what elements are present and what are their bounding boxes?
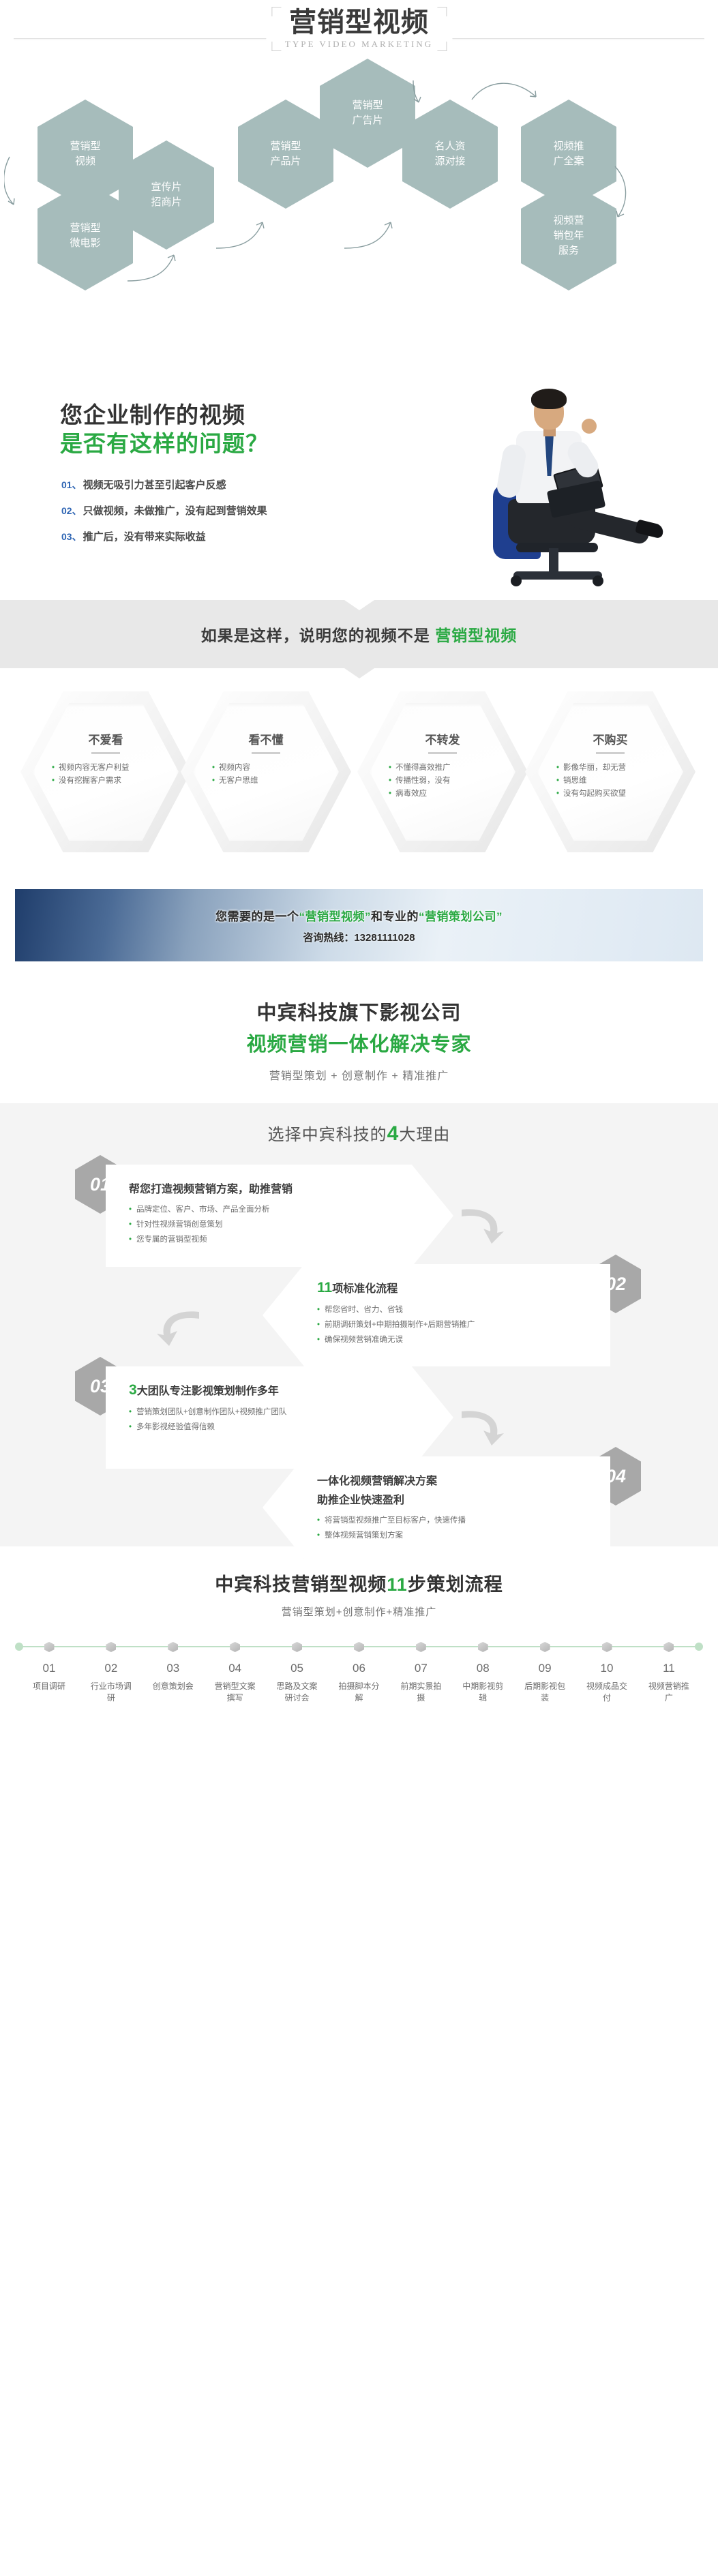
rail-end-cap-left-icon [15, 1643, 23, 1651]
title-underline [252, 752, 280, 754]
reason-heading: 3大团队专注影视策划制作多年 [129, 1381, 430, 1398]
step-number: 02 [89, 1662, 133, 1675]
step-number: 01 [27, 1662, 71, 1675]
step-number: 09 [523, 1662, 567, 1675]
service-hex-cluster: 营销型视频 宣传片招商片 营销型产品片 营销型广告片 名人资源对接 视频推广全案… [0, 82, 718, 375]
step-number: 07 [399, 1662, 443, 1675]
problem-title: 不转发 [389, 730, 496, 747]
chair-wheel [593, 575, 603, 586]
step-item-03[interactable]: 03 创意策划会 [151, 1642, 195, 1705]
step-label: 行业市场调研 [89, 1681, 133, 1705]
step-label: 思路及文案研讨会 [275, 1681, 319, 1705]
step-number: 10 [585, 1662, 629, 1675]
cta-blue-banner: 您需要的是一个“营销型视频”和专业的“营销策划公司” 咨询热线：13281111… [0, 873, 718, 982]
problem-hex-3[interactable]: 不购买 影像华丽，却无营 销思维 没有勾起购买欲望 [525, 691, 695, 852]
reason-heading: 帮您打造视频营销方案，助推营销 [129, 1180, 430, 1196]
corner-bracket-icon [437, 7, 447, 16]
step-number: 03 [151, 1662, 195, 1675]
reasons-section: 选择中宾科技的4大理由 01 帮您打造视频营销方案，助推营销 品牌定位、客户、市… [0, 1103, 718, 1546]
problem-hex-1[interactable]: 看不懂 视频内容 无客户思维 [181, 691, 351, 852]
question-item: 02、 只做视频，未做推广，没有起到营销效果 [61, 503, 267, 518]
problem-hex-inner: 看不懂 视频内容 无客户思维 [193, 703, 339, 841]
problem-bullet: 视频内容 [212, 762, 320, 775]
question-text: 推广后，没有带来实际收益 [83, 529, 206, 543]
chair-wheel [511, 575, 522, 586]
step-number: 04 [213, 1662, 257, 1675]
hex-label: 宣传片招商片 [141, 180, 191, 210]
problem-hex-0[interactable]: 不爱看 视频内容无客户利益 没有挖掘客户需求 [20, 691, 191, 852]
person-hand [582, 419, 597, 434]
curved-arrow-down-right-icon [460, 1205, 505, 1245]
flow-arrow-icon [611, 164, 645, 225]
step-marker-icon [168, 1642, 178, 1652]
step-label: 后期影视包装 [523, 1681, 567, 1705]
problem-title: 看不懂 [212, 730, 320, 747]
step-item-04[interactable]: 04 营销型文案撰写 [213, 1642, 257, 1705]
reason-card-body: 帮您打造视频营销方案，助推营销 品牌定位、客户、市场、产品全面分析 针对性视频营… [106, 1165, 453, 1263]
band-text-plain: 如果是这样，说明您的视频不是 [201, 627, 435, 644]
company-name: 中宾科技旗下影视公司 [0, 997, 718, 1025]
step-marker-icon [354, 1642, 364, 1652]
hex-label: 名人资源对接 [425, 139, 475, 169]
reason-heading: 11项标准化流程 [317, 1279, 587, 1296]
hex-label: 营销型微电影 [60, 221, 110, 251]
company-tagline: 视频营销一体化解决专家 [0, 1028, 718, 1057]
person-hair [531, 389, 567, 409]
problem-bullet-cont: 销思维 [556, 775, 664, 788]
reason-heading-text: 项标准化流程 [332, 1283, 398, 1295]
step-item-10[interactable]: 10 视频成品交付 [585, 1642, 629, 1705]
flow-arrow-icon [215, 218, 276, 252]
steps-subtitle: 营销型策划+创意制作+精准推广 [0, 1604, 718, 1619]
step-item-02[interactable]: 02 行业市场调研 [89, 1642, 133, 1705]
steps-title-number: 11 [387, 1574, 408, 1595]
reason-card-04[interactable]: 一体化视频营销解决方案 助推企业快速盈利 将营销型视频推广至目标客户，快速传播 … [263, 1456, 610, 1559]
header-title-box: 营销型视频 TYPE VIDEO MARKETING [266, 4, 452, 54]
step-marker-icon [478, 1642, 488, 1652]
hex-label: 视频推广全案 [543, 139, 593, 169]
step-label: 视频营销推广 [647, 1681, 691, 1705]
step-item-09[interactable]: 09 后期影视包装 [523, 1642, 567, 1705]
hex-label: 营销型视频 [60, 139, 110, 169]
cta-headline: 您需要的是一个“营销型视频”和专业的“营销策划公司” [215, 907, 503, 924]
reason-card-body: 11项标准化流程 帮您省时、省力、省钱 前期调研策划+中期拍摄制作+后期营销推广… [263, 1264, 610, 1363]
hex-label: 营销型产品片 [260, 139, 310, 169]
steps-row: 01 项目调研 02 行业市场调研 03 创意策划会 04 营销型文案撰写 05 [0, 1642, 718, 1705]
cta-quote-2: “营销策划公司” [419, 910, 503, 923]
rail-end-cap-right-icon [695, 1643, 703, 1651]
band-text-highlight: 营销型视频 [435, 627, 517, 644]
problem-bullet: 视频内容无客户利益 [52, 762, 160, 775]
step-label: 视频成品交付 [585, 1681, 629, 1705]
company-intro-section: 中宾科技旗下影视公司 视频营销一体化解决专家 营销型策划 + 创意制作 + 精准… [0, 982, 718, 1103]
reason-card-03[interactable]: 3大团队专注影视策划制作多年 营销策划团队+创意制作团队+视频推广团队 多年影视… [106, 1366, 453, 1469]
problem-bullet: 无客户思维 [212, 775, 320, 788]
gray-statement-band: 如果是这样，说明您的视频不是 营销型视频 [0, 600, 718, 668]
step-label: 创意策划会 [151, 1681, 195, 1692]
step-label: 营销型文案撰写 [213, 1681, 257, 1705]
curved-arrow-down-left-icon [155, 1308, 200, 1347]
reasons-title-number: 4 [387, 1122, 400, 1145]
problem-title: 不爱看 [52, 730, 160, 747]
cta-hotline[interactable]: 咨询热线：13281111028 [303, 930, 415, 944]
notch-top-icon [344, 600, 374, 610]
reason-bullet: 将营销型视频推广至目标客户，快速传播 [317, 1514, 587, 1529]
cta-middle: 和专业的 [371, 910, 419, 923]
question-section: 您企业制作的视频 是否有这样的问题？ 01、 视频无吸引力甚至引起客户反感 02… [0, 375, 718, 600]
step-marker-icon [416, 1642, 426, 1652]
step-item-11[interactable]: 11 视频营销推广 [647, 1642, 691, 1705]
cta-banner-inner: 您需要的是一个“营销型视频”和专业的“营销策划公司” 咨询热线：13281111… [15, 889, 703, 961]
step-number: 08 [461, 1662, 505, 1675]
question-item: 01、 视频无吸引力甚至引起客户反感 [61, 477, 267, 492]
step-item-05[interactable]: 05 思路及文案研讨会 [275, 1642, 319, 1705]
problem-hex-inner: 不爱看 视频内容无客户利益 没有挖掘客户需求 [33, 703, 179, 841]
step-item-08[interactable]: 08 中期影视剪辑 [461, 1642, 505, 1705]
reason-bullet: 营销策划团队+创意制作团队+视频推广团队 [129, 1405, 430, 1420]
page-subtitle: TYPE VIDEO MARKETING [285, 39, 433, 50]
reason-heading-line2: 助推企业快速盈利 [317, 1491, 587, 1507]
flow-arrow-icon [409, 78, 450, 112]
step-label: 中期影视剪辑 [461, 1681, 505, 1705]
question-text: 只做视频，未做推广，没有起到营销效果 [83, 503, 267, 518]
problem-hex-row: 不爱看 视频内容无客户利益 没有挖掘客户需求 看不懂 视频内容 无客户思维 不转… [0, 668, 718, 873]
step-marker-icon [602, 1642, 612, 1652]
hex-service-2[interactable]: 营销型产品片 [238, 100, 333, 209]
steps-title-suffix: 步策划流程 [408, 1574, 503, 1595]
reason-card-01[interactable]: 帮您打造视频营销方案，助推营销 品牌定位、客户、市场、产品全面分析 针对性视频营… [106, 1165, 453, 1267]
step-marker-icon [663, 1642, 674, 1652]
hex-service-1[interactable]: 宣传片招商片 [119, 140, 214, 250]
reasons-title-prefix: 选择中宾科技的 [268, 1126, 387, 1144]
step-number: 06 [337, 1662, 380, 1675]
step-label: 前期实景拍摄 [399, 1681, 443, 1705]
problem-title: 不购买 [556, 730, 664, 747]
page-title: 营销型视频 [285, 7, 433, 38]
step-marker-icon [106, 1642, 116, 1652]
step-marker-icon [292, 1642, 302, 1652]
problem-hex-2[interactable]: 不转发 不懂得高效推广 传播性弱，没有 病毒效应 [357, 691, 528, 852]
marketing-landing-page: 营销型视频 TYPE VIDEO MARKETING 营销型视频 宣传片招商片 … [0, 0, 718, 1732]
reason-heading: 一体化视频营销解决方案 [317, 1471, 587, 1488]
step-item-06[interactable]: 06 拍摄脚本分解 [337, 1642, 380, 1705]
corner-bracket-icon [271, 42, 281, 51]
reason-bullet: 针对性视频营销创意策划 [129, 1218, 430, 1233]
problem-bullet: 传播性弱，没有 [389, 775, 496, 788]
company-services: 营销型策划 + 创意制作 + 精准推广 [0, 1066, 718, 1083]
step-label: 拍摄脚本分解 [337, 1681, 380, 1705]
reason-bullet: 确保视频营销准确无误 [317, 1333, 587, 1348]
steps-title-prefix: 中宾科技营销型视频 [215, 1574, 387, 1595]
reason-heading-accent: 3 [129, 1382, 137, 1398]
reasons-title: 选择中宾科技的4大理由 [0, 1121, 718, 1145]
question-number: 03、 [61, 530, 82, 543]
problem-bullet-cont: 病毒效应 [389, 788, 496, 800]
problem-hex-inner: 不购买 影像华丽，却无营 销思维 没有勾起购买欲望 [537, 703, 683, 841]
reason-heading-text: 大团队专注影视策划制作多年 [137, 1386, 279, 1397]
reason-bullet: 帮您省时、省力、省钱 [317, 1303, 587, 1318]
question-list: 01、 视频无吸引力甚至引起客户反感 02、 只做视频，未做推广，没有起到营销效… [61, 477, 267, 555]
question-headline-2: 是否有这样的问题？ [60, 425, 269, 458]
corner-bracket-icon [437, 42, 447, 51]
step-label: 项目调研 [27, 1681, 71, 1692]
title-underline [428, 752, 457, 754]
question-item: 03、 推广后，没有带来实际收益 [61, 529, 267, 543]
reason-bullet: 前期调研策划+中期拍摄制作+后期营销推广 [317, 1318, 587, 1333]
hex-label: 视频营销包年服务 [543, 213, 593, 258]
problem-bullet: 影像华丽，却无营 [556, 762, 664, 775]
reasons-title-suffix: 大理由 [399, 1126, 450, 1144]
problem-hex-inner: 不转发 不懂得高效推广 传播性弱，没有 病毒效应 [370, 703, 515, 841]
question-text: 视频无吸引力甚至引起客户反感 [83, 477, 226, 492]
title-underline [596, 752, 625, 754]
step-marker-icon [44, 1642, 55, 1652]
cta-quote-1: “营销型视频” [299, 910, 372, 923]
step-marker-icon [540, 1642, 550, 1652]
question-number: 02、 [61, 504, 82, 518]
reason-card-02[interactable]: 11项标准化流程 帮您省时、省力、省钱 前期调研策划+中期拍摄制作+后期营销推广… [263, 1264, 610, 1366]
title-underline [91, 752, 120, 754]
flow-arrow-icon [126, 251, 188, 285]
step-marker-icon [230, 1642, 240, 1652]
reason-heading-accent: 11 [317, 1280, 332, 1296]
curved-arrow-down-right-icon [460, 1407, 505, 1447]
hex-service-7[interactable]: 视频营销包年服务 [521, 181, 616, 290]
step-number: 05 [275, 1662, 319, 1675]
chair-base [513, 571, 602, 580]
flow-arrow-icon [343, 218, 404, 252]
band-statement: 如果是这样，说明您的视频不是 营销型视频 [201, 623, 517, 646]
flow-arrow-icon [470, 76, 545, 110]
businessman-illustration [445, 382, 691, 593]
problem-bullet: 没有挖掘客户需求 [52, 775, 160, 788]
steps-title: 中宾科技营销型视频11步策划流程 [0, 1570, 718, 1596]
reason-card-body: 3大团队专注影视策划制作多年 营销策划团队+创意制作团队+视频推广团队 多年影视… [106, 1366, 453, 1450]
reason-card-body: 一体化视频营销解决方案 助推企业快速盈利 将营销型视频推广至目标客户，快速传播 … [263, 1456, 610, 1559]
reason-bullet: 整体视频营销策划方案 [317, 1529, 587, 1544]
hex-label: 营销型广告片 [342, 98, 392, 128]
problem-bullet: 没有勾起购买欲望 [556, 788, 664, 800]
question-headline-1: 您企业制作的视频 [60, 397, 245, 430]
flow-arrow-icon [4, 153, 31, 214]
steps-section: 中宾科技营销型视频11步策划流程 营销型策划+创意制作+精准推广 01 项目调研… [0, 1546, 718, 1732]
hex-service-4[interactable]: 名人资源对接 [402, 100, 498, 209]
step-number: 11 [647, 1662, 691, 1675]
cta-prefix: 您需要的是一个 [215, 910, 299, 923]
problem-bullet: 不懂得高效推广 [389, 762, 496, 775]
step-item-07[interactable]: 07 前期实景拍摄 [399, 1642, 443, 1705]
reason-bullet: 您专属的营销型视频 [129, 1233, 430, 1248]
step-item-01[interactable]: 01 项目调研 [27, 1642, 71, 1705]
reason-bullet: 多年影视经验值得信赖 [129, 1420, 430, 1435]
reason-bullet: 品牌定位、客户、市场、产品全面分析 [129, 1203, 430, 1218]
question-number: 01、 [61, 478, 82, 492]
corner-bracket-icon [271, 7, 281, 16]
